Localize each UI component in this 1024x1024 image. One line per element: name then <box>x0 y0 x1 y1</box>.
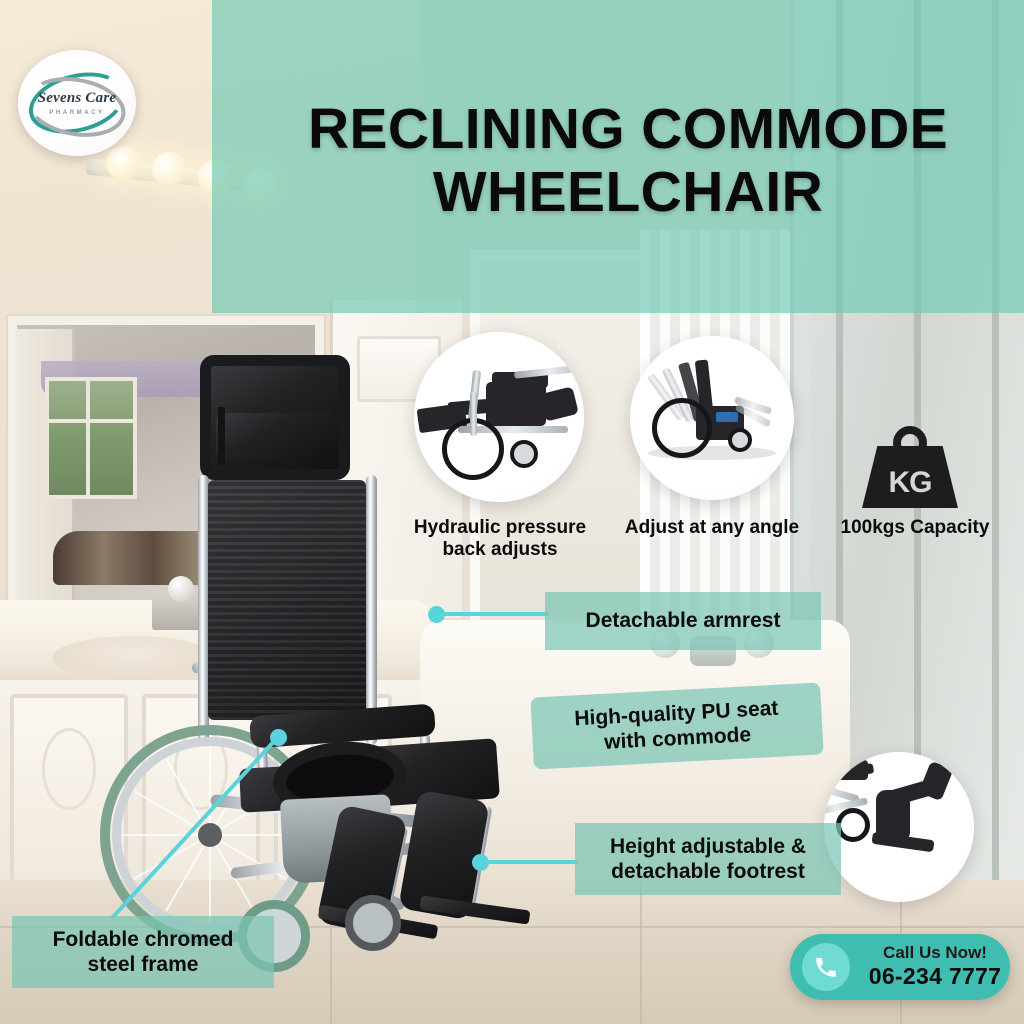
wheel-hub <box>198 823 222 847</box>
page-title: RECLINING COMMODE WHEELCHAIR <box>258 98 998 223</box>
head-cushion <box>216 413 336 459</box>
feature-caption-hydraulic: Hydraulic pressure back adjusts <box>396 517 604 562</box>
cta-phone-number: 06-234 7777 <box>860 963 1010 991</box>
connector-dot-footrest <box>472 854 489 871</box>
callout-line-2: detachable footrest <box>611 860 805 883</box>
cta-label: Call Us Now! <box>860 943 1010 963</box>
caption-line-1: 100kgs Capacity <box>841 517 990 538</box>
callout-line-1: Foldable chromed <box>53 928 234 951</box>
caption-line-2: back adjusts <box>442 539 557 560</box>
connector-line-footrest <box>480 860 578 864</box>
logo-name: Sevens Care <box>18 90 136 107</box>
backrest-frame-right <box>366 475 377 745</box>
callout-foldable-frame: Foldable chromed steel frame <box>12 916 274 988</box>
weight-unit-label: KG <box>862 466 958 500</box>
callout-detachable-armrest: Detachable armrest <box>545 592 821 650</box>
feature-image-footrest-detail <box>824 752 974 902</box>
caption-line-1: Adjust at any angle <box>625 517 799 538</box>
callout-line-2: with commode <box>604 723 752 754</box>
call-us-now-button[interactable]: Call Us Now! 06-234 7777 <box>790 934 1010 1000</box>
title-line-1: RECLINING COMMODE <box>258 98 998 161</box>
weight-capacity-icon: KG <box>862 426 958 508</box>
phone-icon <box>802 943 850 991</box>
feature-image-adjust-angle <box>630 336 794 500</box>
feature-caption-capacity: 100kgs Capacity <box>820 517 1010 539</box>
light-bulb <box>152 152 186 186</box>
feature-image-hydraulic-recline <box>414 332 584 502</box>
connector-dot-armrest <box>428 606 445 623</box>
connector-line-armrest <box>437 612 549 616</box>
callout-line-1: Height adjustable & <box>610 835 806 858</box>
connector-dot-frame <box>270 729 287 746</box>
product-poster: RECLINING COMMODE WHEELCHAIR Sevens Care… <box>0 0 1024 1024</box>
caption-line-1: Hydraulic pressure <box>414 517 586 538</box>
rear-castor-wheel <box>345 895 401 951</box>
logo-subtitle: PHARMACY <box>18 110 136 116</box>
callout-text: Detachable armrest <box>586 608 781 633</box>
callout-pu-seat: High-quality PU seat with commode <box>530 682 823 769</box>
callout-footrest: Height adjustable & detachable footrest <box>575 823 841 895</box>
feature-caption-adjust-angle: Adjust at any angle <box>614 517 810 539</box>
brand-logo[interactable]: Sevens Care PHARMACY <box>18 50 136 156</box>
head-strap <box>218 407 225 465</box>
backrest <box>208 480 366 720</box>
callout-line-2: steel frame <box>88 953 199 976</box>
title-line-2: WHEELCHAIR <box>258 161 998 224</box>
